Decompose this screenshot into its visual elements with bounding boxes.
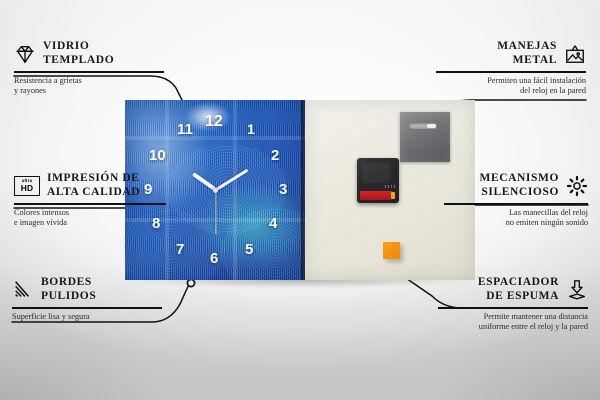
callout-manejas-metal: MANEJAS METAL Permiten una fácil instala… [436, 40, 586, 97]
hanger-slot [409, 123, 437, 129]
polished-edge-icon [12, 279, 34, 301]
callout-title-line1: MANEJAS [497, 40, 557, 54]
foam-spacer [383, 242, 400, 259]
clock-numeral: 1 [247, 122, 255, 136]
callout-title-line1: VIDRIO [43, 40, 114, 54]
callout-espaciador-espuma: ESPACIADOR DE ESPUMA Permite mantener un… [438, 276, 588, 333]
callout-desc-line1: Resistencia a grietas [14, 76, 164, 87]
callout-rule [444, 203, 588, 204]
callout-desc-line1: Permite mantener una distancia [438, 312, 588, 323]
callout-title-line2: PULIDOS [41, 290, 96, 304]
diamond-icon [14, 43, 36, 65]
callout-title-line1: ESPACIADOR [478, 276, 559, 290]
callout-rule [14, 203, 166, 204]
callout-desc-line1: Superficie lisa y segura [12, 312, 162, 323]
quartz-mechanism [357, 158, 399, 203]
metal-hanger [400, 112, 450, 162]
callout-desc-line2: del reloj en la pared [436, 86, 586, 97]
callout-bordes-pulidos: BORDES PULIDOS Superficie lisa y segura [12, 276, 162, 322]
callout-title-line2: SILENCIOSO [479, 186, 559, 200]
clock-numeral: 10 [149, 148, 166, 163]
callout-desc-line1: Permiten una fácil instalación [436, 76, 586, 87]
mechanism-face [362, 163, 390, 183]
callout-desc-line2: no emiten ningún sonido [444, 218, 588, 229]
callout-rule [436, 71, 586, 72]
ultra-hd-icon: ultra HD [14, 176, 40, 196]
ultra-hd-icon-main: HD [21, 184, 34, 192]
callout-desc-line1: Las manecillas del reloj [444, 208, 588, 219]
clock-numeral: 3 [279, 182, 287, 197]
callout-title-line2: ALTA CALIDAD [47, 186, 140, 200]
callout-desc-line2: e imagen vívida [14, 218, 166, 229]
callout-title-line1: MECANISMO [479, 172, 559, 186]
callout-rule [12, 307, 162, 308]
hand-hub [213, 188, 218, 193]
callout-rule [14, 71, 164, 72]
callout-rule [438, 307, 588, 308]
foam-spacer-icon [566, 279, 588, 301]
clock-numeral: 11 [177, 122, 193, 137]
second-hand [215, 190, 216, 234]
callout-desc-line1: Colores intensos [14, 208, 166, 219]
clock-numeral: 2 [271, 148, 279, 163]
callout-title-line2: DE ESPUMA [478, 290, 559, 304]
gear-icon [566, 175, 588, 197]
clock-numeral: 4 [269, 216, 277, 231]
clock-numeral: 6 [210, 251, 218, 266]
clock-numeral: 7 [176, 242, 184, 257]
callout-mecanismo-silencioso: MECANISMO SILENCIOSO Las manecillas del … [444, 172, 588, 229]
clock-numeral: 5 [245, 242, 253, 257]
infographic-canvas: 12 1 2 3 4 5 6 7 8 9 10 11 [0, 0, 600, 400]
product-photo: 12 1 2 3 4 5 6 7 8 9 10 11 [125, 100, 475, 280]
callout-title-line1: BORDES [41, 276, 96, 290]
battery [360, 191, 392, 200]
callout-title-line2: TEMPLADO [43, 54, 114, 68]
callout-impresion-alta-calidad: ultra HD IMPRESIÓN DE ALTA CALIDAD Color… [14, 172, 166, 229]
mechanism-label [385, 185, 395, 188]
callout-title-line2: METAL [497, 54, 557, 68]
picture-hanger-icon [564, 43, 586, 65]
callout-vidrio-templado: VIDRIO TEMPLADO Resistencia a grietas y … [14, 40, 164, 97]
callout-desc-line2: uniforme entre el reloj y la pared [438, 322, 588, 333]
callout-title-line1: IMPRESIÓN DE [47, 172, 140, 186]
clock-numeral: 12 [205, 114, 223, 130]
callout-desc-line2: y rayones [14, 86, 164, 97]
